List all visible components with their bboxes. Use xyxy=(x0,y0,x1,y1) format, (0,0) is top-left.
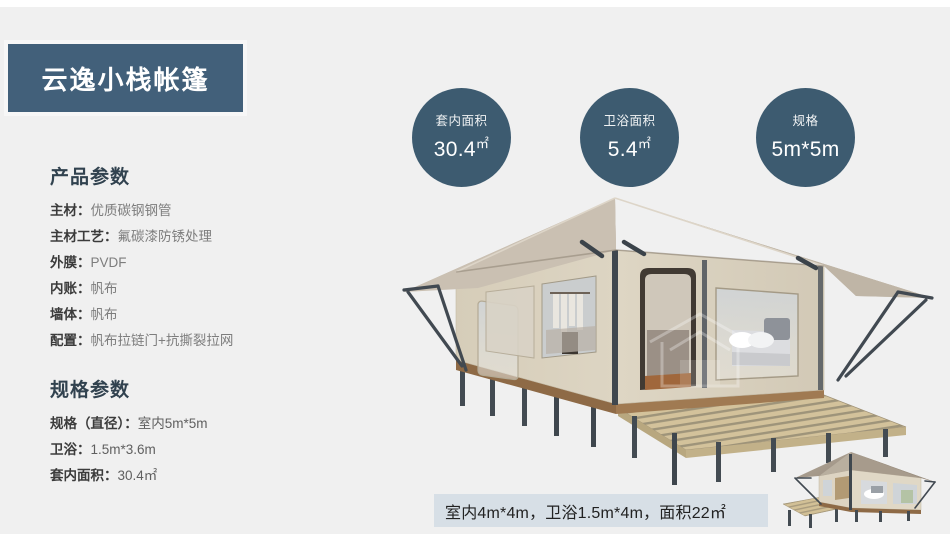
title-banner: 云逸小栈帐篷 xyxy=(8,44,243,112)
stat-badge-label: 卫浴面积 xyxy=(603,114,655,128)
spec-value: 帆布拉链门+抗撕裂拉网 xyxy=(91,333,234,348)
caption-text: 室内4m*4m，卫浴1.5m*4m，面积22㎡ xyxy=(434,499,726,523)
spec-label: 配置： xyxy=(50,333,91,348)
spec-value: 室内5m*5m xyxy=(138,416,208,431)
spec-row: 内账：帆布 xyxy=(50,276,346,302)
spec-label: 外膜： xyxy=(50,255,91,270)
spec-panel: 产品参数 主材：优质碳钢钢管 主材工艺：氟碳漆防锈处理 外膜：PVDF 内账：帆… xyxy=(46,162,346,489)
tent-thumbnail-image[interactable] xyxy=(775,448,945,532)
spec-value: 氟碳漆防锈处理 xyxy=(118,229,213,244)
spec-value: 帆布 xyxy=(91,281,118,296)
size-params-heading: 规格参数 xyxy=(50,375,346,402)
stat-badge-label: 套内面积 xyxy=(435,114,487,128)
stat-badge-interior-area: 套内面积 30.4㎡ xyxy=(412,88,511,187)
spec-value: 帆布 xyxy=(91,307,118,322)
stat-badge-label: 规格 xyxy=(792,114,818,128)
spec-row: 外膜：PVDF xyxy=(50,250,346,276)
spec-label: 卫浴： xyxy=(50,442,91,457)
spec-label: 主材： xyxy=(50,203,91,218)
spec-row: 规格（直径）：室内5m*5m xyxy=(50,411,346,437)
stat-badge-dimensions: 规格 5m*5m xyxy=(756,88,855,187)
spec-value: PVDF xyxy=(91,255,127,270)
spec-row: 主材工艺：氟碳漆防锈处理 xyxy=(50,224,346,250)
size-params-group: 规格参数 规格（直径）：室内5m*5m 卫浴：1.5m*3.6m 套内面积：30… xyxy=(46,375,346,489)
spec-label: 套内面积： xyxy=(50,468,118,483)
tent-product-image xyxy=(386,180,950,490)
stat-badge-bathroom-area: 卫浴面积 5.4㎡ xyxy=(580,88,679,187)
page-title: 云逸小栈帐篷 xyxy=(41,60,209,97)
stat-badge-value: 30.4㎡ xyxy=(434,131,489,162)
caption-bar: 室内4m*4m，卫浴1.5m*4m，面积22㎡ xyxy=(434,494,768,527)
spec-label: 内账： xyxy=(50,281,91,296)
product-params-heading: 产品参数 xyxy=(50,162,346,189)
stat-badge-value: 5.4㎡ xyxy=(608,131,651,162)
spec-row: 墙体：帆布 xyxy=(50,302,346,328)
spec-value: 优质碳钢钢管 xyxy=(91,203,172,218)
product-spec-page: 云逸小栈帐篷 产品参数 主材：优质碳钢钢管 主材工艺：氟碳漆防锈处理 外膜：PV… xyxy=(0,0,950,534)
top-white-strip xyxy=(0,0,950,7)
spec-row: 套内面积：30.4㎡ xyxy=(50,463,346,489)
stat-badge-value: 5m*5m xyxy=(771,131,839,162)
product-params-group: 产品参数 主材：优质碳钢钢管 主材工艺：氟碳漆防锈处理 外膜：PVDF 内账：帆… xyxy=(46,162,346,354)
spec-row: 配置：帆布拉链门+抗撕裂拉网 xyxy=(50,328,346,354)
spec-label: 墙体： xyxy=(50,307,91,322)
spec-label: 规格（直径）： xyxy=(50,416,138,431)
spec-label: 主材工艺： xyxy=(50,229,118,244)
spec-value: 1.5m*3.6m xyxy=(91,442,156,457)
spec-row: 卫浴：1.5m*3.6m xyxy=(50,437,346,463)
spec-value: 30.4㎡ xyxy=(118,468,158,483)
spec-row: 主材：优质碳钢钢管 xyxy=(50,198,346,224)
